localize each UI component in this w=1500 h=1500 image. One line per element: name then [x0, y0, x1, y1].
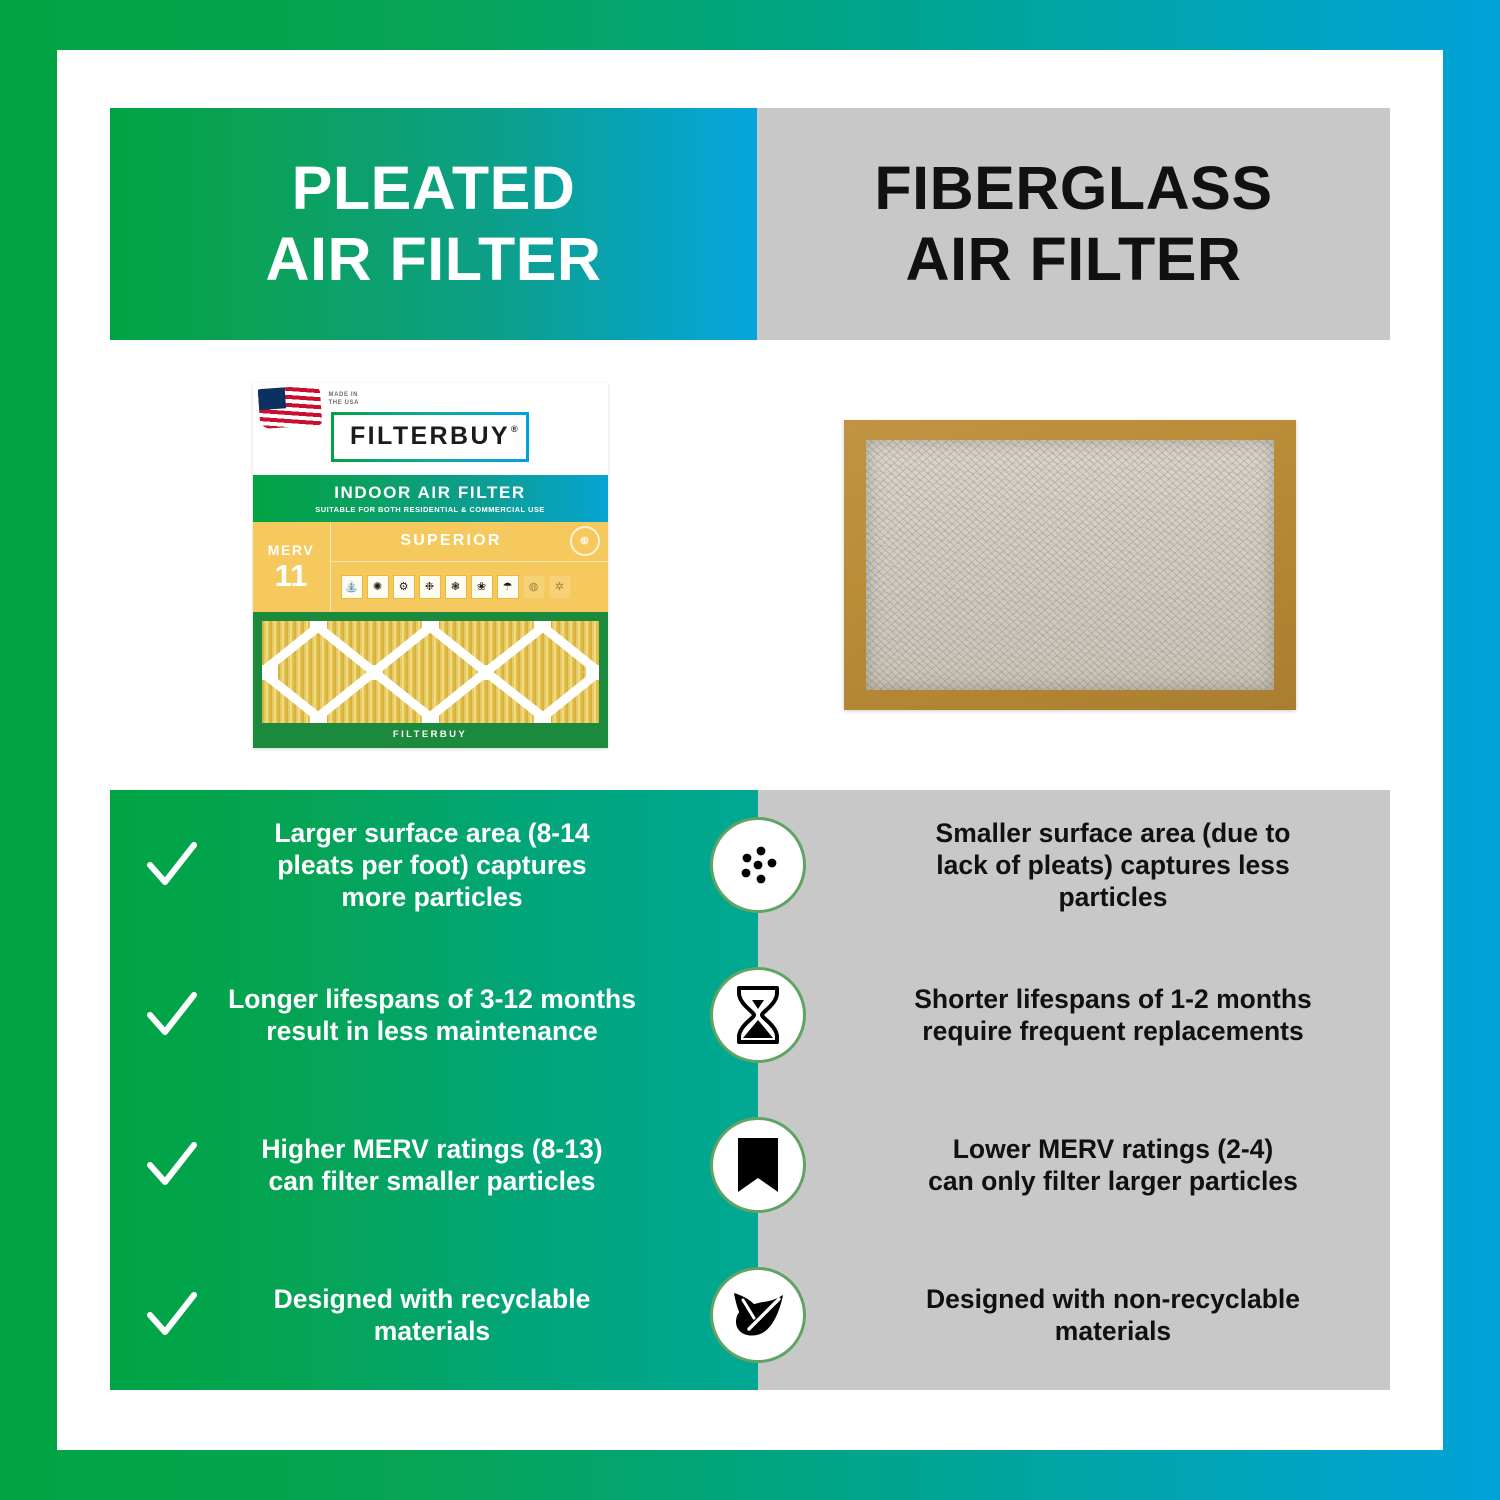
- checkmark-icon: [144, 987, 200, 1043]
- header-pleated-panel: PLEATED AIR FILTER: [110, 108, 757, 340]
- merv-detail: SUPERIOR ⊛ ⛲ ✺ ⚙ ❉ ❃ ❀ ☂ ◍: [331, 522, 608, 612]
- pollen-icon: ✺: [367, 575, 389, 599]
- merv-value: 11: [275, 560, 308, 591]
- pet-dander-icon: ❀: [471, 575, 493, 599]
- fiberglass-media: [866, 440, 1274, 690]
- product-images-band: MADE IN THE USA FILTERBUY® INDOOR AIR FI…: [110, 340, 1390, 790]
- white-page: PLEATED AIR FILTER FIBERGLASS AIR FILTER…: [57, 50, 1443, 1450]
- row-left-cell: Designed with recyclable materials: [110, 1240, 758, 1390]
- registered-mark: ®: [511, 424, 520, 434]
- grade-label: SUPERIOR: [400, 532, 501, 550]
- odor-icon: ◍: [523, 575, 545, 599]
- leaves-glyph: [727, 1287, 789, 1343]
- header-fiberglass-panel: FIBERGLASS AIR FILTER: [757, 108, 1390, 340]
- hourglass-icon: [710, 967, 806, 1063]
- grade-row: SUPERIOR ⊛: [331, 522, 608, 562]
- dust-icon: ⛲: [341, 575, 363, 599]
- fiberglass-header-title: FIBERGLASS AIR FILTER: [874, 153, 1272, 295]
- fiberglass-product-cell: [750, 340, 1390, 790]
- merv-strip: MERV 11 SUPERIOR ⊛ ⛲ ✺ ⚙: [253, 522, 608, 612]
- band-subtitle: SUITABLE FOR BOTH RESIDENTIAL & COMMERCI…: [315, 505, 544, 514]
- leaves-icon: [710, 1267, 806, 1363]
- particles-icon: [710, 817, 806, 913]
- row-left-text: Designed with recyclable materials: [218, 1283, 646, 1348]
- pleated-media-area: FILTERBUY: [253, 612, 608, 748]
- row-right-text: Smaller surface area (due to lack of ple…: [870, 817, 1356, 914]
- checkmark-icon: [144, 1137, 200, 1193]
- comparison-row: Larger surface area (8-14 pleats per foo…: [110, 790, 1390, 940]
- smoke-icon: ☂: [497, 575, 519, 599]
- comparison-rows: Larger surface area (8-14 pleats per foo…: [110, 790, 1390, 1390]
- fiberglass-filter-image: [844, 420, 1296, 710]
- comparison-row: Designed with recyclable materials Desig…: [110, 1240, 1390, 1390]
- row-left-text: Higher MERV ratings (8-13) can filter sm…: [218, 1133, 646, 1198]
- filterbuy-brand-text: FILTERBUY: [350, 422, 510, 450]
- capability-icon-row: ⛲ ✺ ⚙ ❉ ❃ ❀ ☂ ◍ ✲: [331, 562, 608, 612]
- row-left-cell: Higher MERV ratings (8-13) can filter sm…: [110, 1090, 758, 1240]
- row-right-text: Designed with non-recyclable materials: [870, 1283, 1356, 1348]
- row-left-text: Longer lifespans of 3-12 months result i…: [218, 983, 646, 1048]
- indoor-air-filter-band: INDOOR AIR FILTER SUITABLE FOR BOTH RESI…: [253, 475, 608, 522]
- usa-flag-icon: [257, 384, 322, 428]
- support-lattice-icon: [262, 621, 599, 723]
- bacteria-icon: ⚙: [393, 575, 415, 599]
- row-right-cell: Lower MERV ratings (2-4) can only filter…: [758, 1090, 1390, 1240]
- mold-spores-icon: ❉: [419, 575, 441, 599]
- bookmark-glyph: [734, 1136, 782, 1194]
- checkmark-icon: [144, 837, 200, 893]
- infographic-canvas: PLEATED AIR FILTER FIBERGLASS AIR FILTER…: [0, 0, 1500, 1500]
- made-in-usa-label: MADE IN THE USA: [329, 391, 360, 407]
- merv-badge: MERV 11: [253, 522, 331, 612]
- row-left-text: Larger surface area (8-14 pleats per foo…: [218, 817, 646, 914]
- certification-seal-icon: ⊛: [570, 526, 600, 556]
- bottom-brand-label: FILTERBUY: [262, 729, 599, 740]
- particles-glyph: [727, 834, 789, 896]
- checkmark-icon: [144, 1287, 200, 1343]
- pleated-product-cell: MADE IN THE USA FILTERBUY® INDOOR AIR FI…: [110, 340, 750, 790]
- band-title: INDOOR AIR FILTER: [334, 483, 526, 503]
- header-row: PLEATED AIR FILTER FIBERGLASS AIR FILTER: [110, 108, 1390, 340]
- row-right-cell: Smaller surface area (due to lack of ple…: [758, 790, 1390, 940]
- virus-icon: ❃: [445, 575, 467, 599]
- comparison-section: Larger surface area (8-14 pleats per foo…: [110, 790, 1390, 1390]
- filterbuy-wordmark: FILTERBUY®: [350, 422, 510, 451]
- comparison-row: Longer lifespans of 3-12 months result i…: [110, 940, 1390, 1090]
- row-right-cell: Shorter lifespans of 1-2 months require …: [758, 940, 1390, 1090]
- bookmark-icon: [710, 1117, 806, 1213]
- row-right-text: Lower MERV ratings (2-4) can only filter…: [870, 1133, 1356, 1198]
- pleated-media: [262, 621, 599, 723]
- filterbuy-logo-box: FILTERBUY®: [331, 412, 529, 462]
- row-left-cell: Longer lifespans of 3-12 months result i…: [110, 940, 758, 1090]
- row-right-text: Shorter lifespans of 1-2 months require …: [870, 983, 1356, 1048]
- hourglass-glyph: [730, 984, 786, 1046]
- row-right-cell: Designed with non-recyclable materials: [758, 1240, 1390, 1390]
- comparison-row: Higher MERV ratings (8-13) can filter sm…: [110, 1090, 1390, 1240]
- merv-label: MERV: [268, 542, 315, 558]
- row-left-cell: Larger surface area (8-14 pleats per foo…: [110, 790, 758, 940]
- pleated-filter-header: MADE IN THE USA FILTERBUY®: [253, 383, 608, 475]
- pleated-filter-image: MADE IN THE USA FILTERBUY® INDOOR AIR FI…: [253, 383, 608, 748]
- pleated-header-title: PLEATED AIR FILTER: [266, 153, 602, 295]
- allergen-icon: ✲: [549, 575, 571, 599]
